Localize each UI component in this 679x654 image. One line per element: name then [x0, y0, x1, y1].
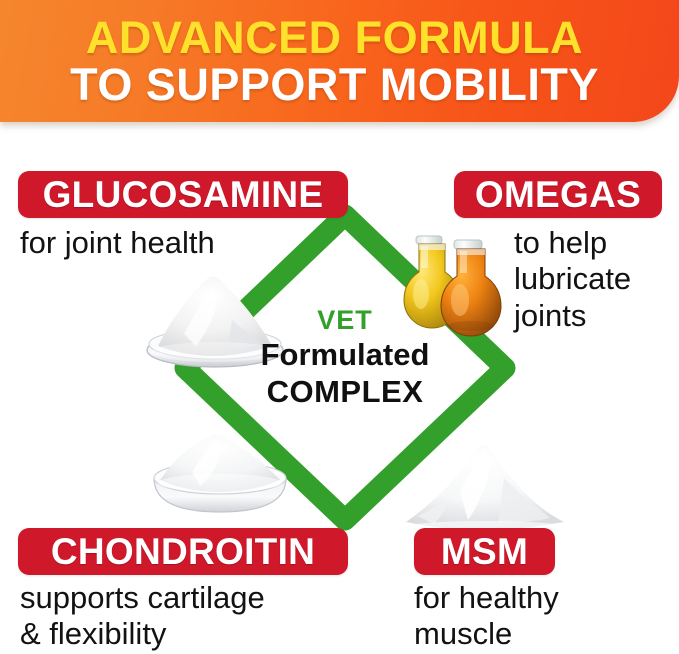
description-omegas: to help lubricate joints [514, 225, 631, 334]
badge-msm: MSM [414, 528, 555, 575]
header-banner: ADVANCED FORMULA TO SUPPORT MOBILITY [0, 0, 679, 122]
complex-label: COMPLEX [225, 373, 465, 410]
badge-glucosamine: GLUCOSAMINE [18, 171, 348, 218]
description-msm: for healthy muscle [414, 580, 559, 653]
banner-headline-secondary: TO SUPPORT MOBILITY [0, 62, 669, 107]
description-chondroitin: supports cartilage & flexibility [20, 580, 265, 653]
center-text-block: VET Formulated COMPLEX [225, 305, 465, 410]
product-infographic: ADVANCED FORMULA TO SUPPORT MOBILITY [0, 0, 679, 654]
chondroitin-powder-image [140, 428, 300, 533]
msm-powder-image [400, 430, 570, 535]
banner-headline-primary: ADVANCED FORMULA [0, 15, 669, 60]
badge-omegas: OMEGAS [454, 171, 662, 218]
formulated-label: Formulated [225, 336, 465, 373]
vet-label: VET [225, 305, 465, 336]
description-glucosamine: for joint health [20, 225, 215, 261]
badge-chondroitin: CHONDROITIN [18, 528, 348, 575]
